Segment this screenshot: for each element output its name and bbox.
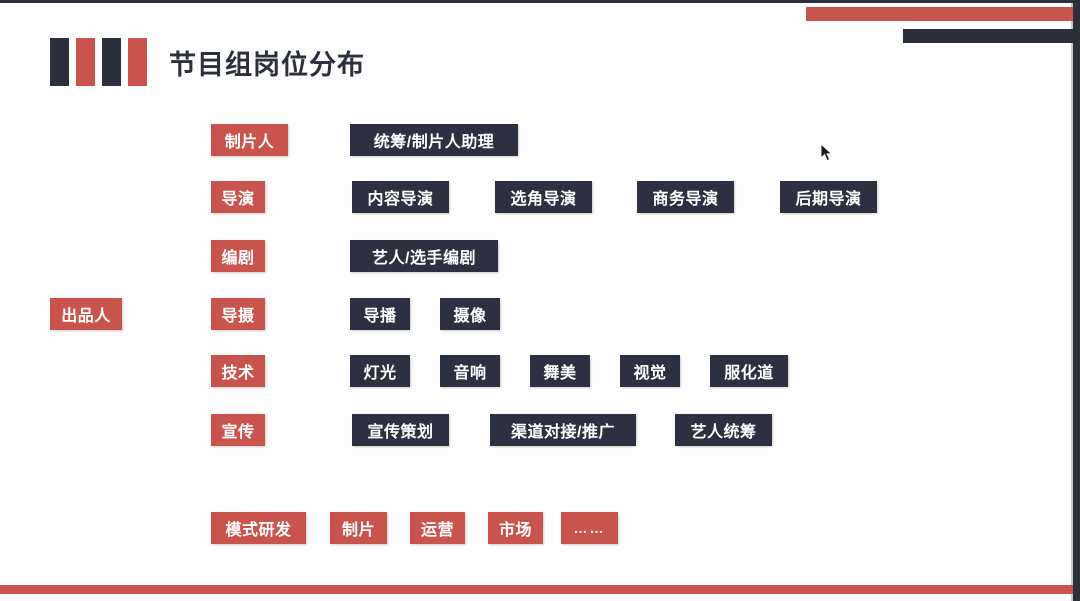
title-mark-2 [76,38,95,86]
mouse-cursor [820,143,833,162]
slide-title-block: 节目组岗位分布 [50,38,365,86]
node-role-导演-后期导演[interactable]: 后期导演 [780,181,877,213]
node-role-宣传-渠道对接-推广[interactable]: 渠道对接/推广 [490,414,636,446]
decor-dark-bar-top [903,29,1073,43]
node-role-导演-选角导演[interactable]: 选角导演 [495,181,592,213]
title-mark-1 [50,38,69,86]
node-role-导演-商务导演[interactable]: 商务导演 [637,181,734,213]
page-title: 节目组岗位分布 [169,43,365,82]
decor-red-bar-bottom [0,585,1073,594]
node-department-导摄[interactable]: 导摄 [211,298,265,330]
slide-right-border [1073,0,1080,601]
decor-red-bar-top [806,7,1073,21]
node-support-运营[interactable]: 运营 [410,512,465,544]
node-role-导演-内容导演[interactable]: 内容导演 [352,181,449,213]
node-root-出品人[interactable]: 出品人 [50,298,122,330]
node-department-技术[interactable]: 技术 [211,355,265,387]
node-role-技术-视觉[interactable]: 视觉 [620,355,680,387]
node-department-宣传[interactable]: 宣传 [211,414,265,446]
node-role-宣传-宣传策划[interactable]: 宣传策划 [352,414,449,446]
node-department-编剧[interactable]: 编剧 [211,240,265,272]
node-role-技术-舞美[interactable]: 舞美 [530,355,590,387]
node-support-市场[interactable]: 市场 [488,512,543,544]
node-role-技术-音响[interactable]: 音响 [440,355,500,387]
slide-canvas: 节目组岗位分布 出品人制片人统筹/制片人助理导演内容导演选角导演商务导演后期导演… [0,0,1080,601]
node-role-制片人-统筹-制片人助理[interactable]: 统筹/制片人助理 [350,124,518,156]
node-support-制片[interactable]: 制片 [330,512,387,544]
slide-top-border [0,0,1080,3]
node-department-制片人[interactable]: 制片人 [211,124,288,156]
node-role-编剧-艺人-选手编剧[interactable]: 艺人/选手编剧 [350,240,498,272]
node-support-moremore[interactable]: …… [561,512,618,544]
node-role-宣传-艺人统筹[interactable]: 艺人统筹 [675,414,772,446]
title-mark-3 [102,38,121,86]
node-role-导摄-导播[interactable]: 导播 [350,298,410,330]
title-decoration-marks [50,38,147,86]
node-department-导演[interactable]: 导演 [211,181,265,213]
node-role-技术-灯光[interactable]: 灯光 [350,355,410,387]
title-mark-4 [128,38,147,86]
node-support-模式研发[interactable]: 模式研发 [211,512,306,544]
node-role-技术-服化道[interactable]: 服化道 [710,355,788,387]
node-role-导摄-摄像[interactable]: 摄像 [440,298,500,330]
